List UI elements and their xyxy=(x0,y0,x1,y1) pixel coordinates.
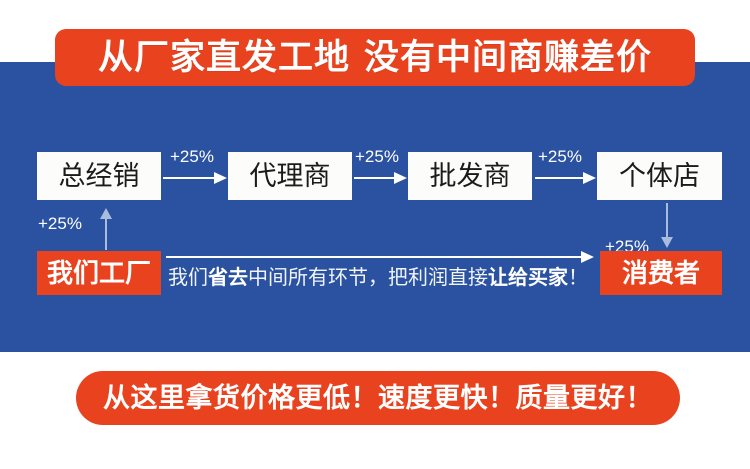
statement-seg4-bold: 让给买家 xyxy=(488,268,568,288)
arrow-shaft xyxy=(666,203,668,237)
header-banner: 从厂家直发工地没有中间商赚差价 xyxy=(55,29,695,86)
statement-seg5: ！ xyxy=(568,268,588,288)
arrow-head xyxy=(661,237,673,248)
poster-canvas: 从厂家直发工地没有中间商赚差价 总经销 代理商 批发商 个体店 +25% +25… xyxy=(0,0,750,469)
markup-label-step1: +25% xyxy=(170,148,214,165)
statement-seg1: 我们 xyxy=(168,268,208,288)
arrow-head xyxy=(583,172,596,184)
flow-node-label: 总经销 xyxy=(59,163,140,190)
flow-node-label: 我们工厂 xyxy=(47,260,151,286)
flow-node-label: 个体店 xyxy=(619,163,700,190)
flow-node-label: 代理商 xyxy=(250,163,331,190)
arrow-shaft xyxy=(163,177,214,179)
flow-node-retail-shop: 个体店 xyxy=(597,152,722,200)
arrow-head xyxy=(394,172,407,184)
header-title: 从厂家直发工地没有中间商赚差价 xyxy=(98,40,652,75)
blue-background-band xyxy=(0,62,750,352)
arrow-shaft xyxy=(354,177,394,179)
arrow-head xyxy=(214,172,227,184)
footer-slogan: 从这里拿货价格更低！速度更快！质量更好！ xyxy=(103,385,653,412)
arrow-right-icon xyxy=(535,172,596,184)
header-title-part2: 没有中间商赚差价 xyxy=(364,38,652,77)
footer-banner: 从这里拿货价格更低！速度更快！质量更好！ xyxy=(76,371,680,425)
flow-node-agent: 代理商 xyxy=(228,152,352,200)
flow-node-label: 消费者 xyxy=(622,260,700,286)
statement-seg3: 中间所有环节，把利润直接 xyxy=(248,268,488,288)
arrow-shaft xyxy=(105,218,107,250)
arrow-up-icon xyxy=(100,208,112,250)
flow-node-our-factory: 我们工厂 xyxy=(37,251,161,295)
statement-seg2-bold: 省去 xyxy=(208,268,248,288)
flow-node-wholesaler: 批发商 xyxy=(408,152,532,200)
markup-label-factory-up: +25% xyxy=(38,215,82,232)
flow-node-consumer: 消费者 xyxy=(600,251,722,295)
markup-label-step2: +25% xyxy=(355,148,399,165)
arrow-right-icon xyxy=(354,172,407,184)
arrow-shaft xyxy=(166,256,581,258)
direct-supply-statement: 我们省去中间所有环节，把利润直接让给买家！ xyxy=(168,261,592,295)
flow-node-label: 批发商 xyxy=(430,163,511,190)
arrow-down-icon xyxy=(661,203,673,249)
arrow-shaft xyxy=(535,177,583,179)
markup-label-step3: +25% xyxy=(538,148,582,165)
arrow-right-icon xyxy=(163,172,227,184)
header-title-part1: 从厂家直发工地 xyxy=(98,38,350,77)
flow-node-general-distributor: 总经销 xyxy=(37,152,161,200)
